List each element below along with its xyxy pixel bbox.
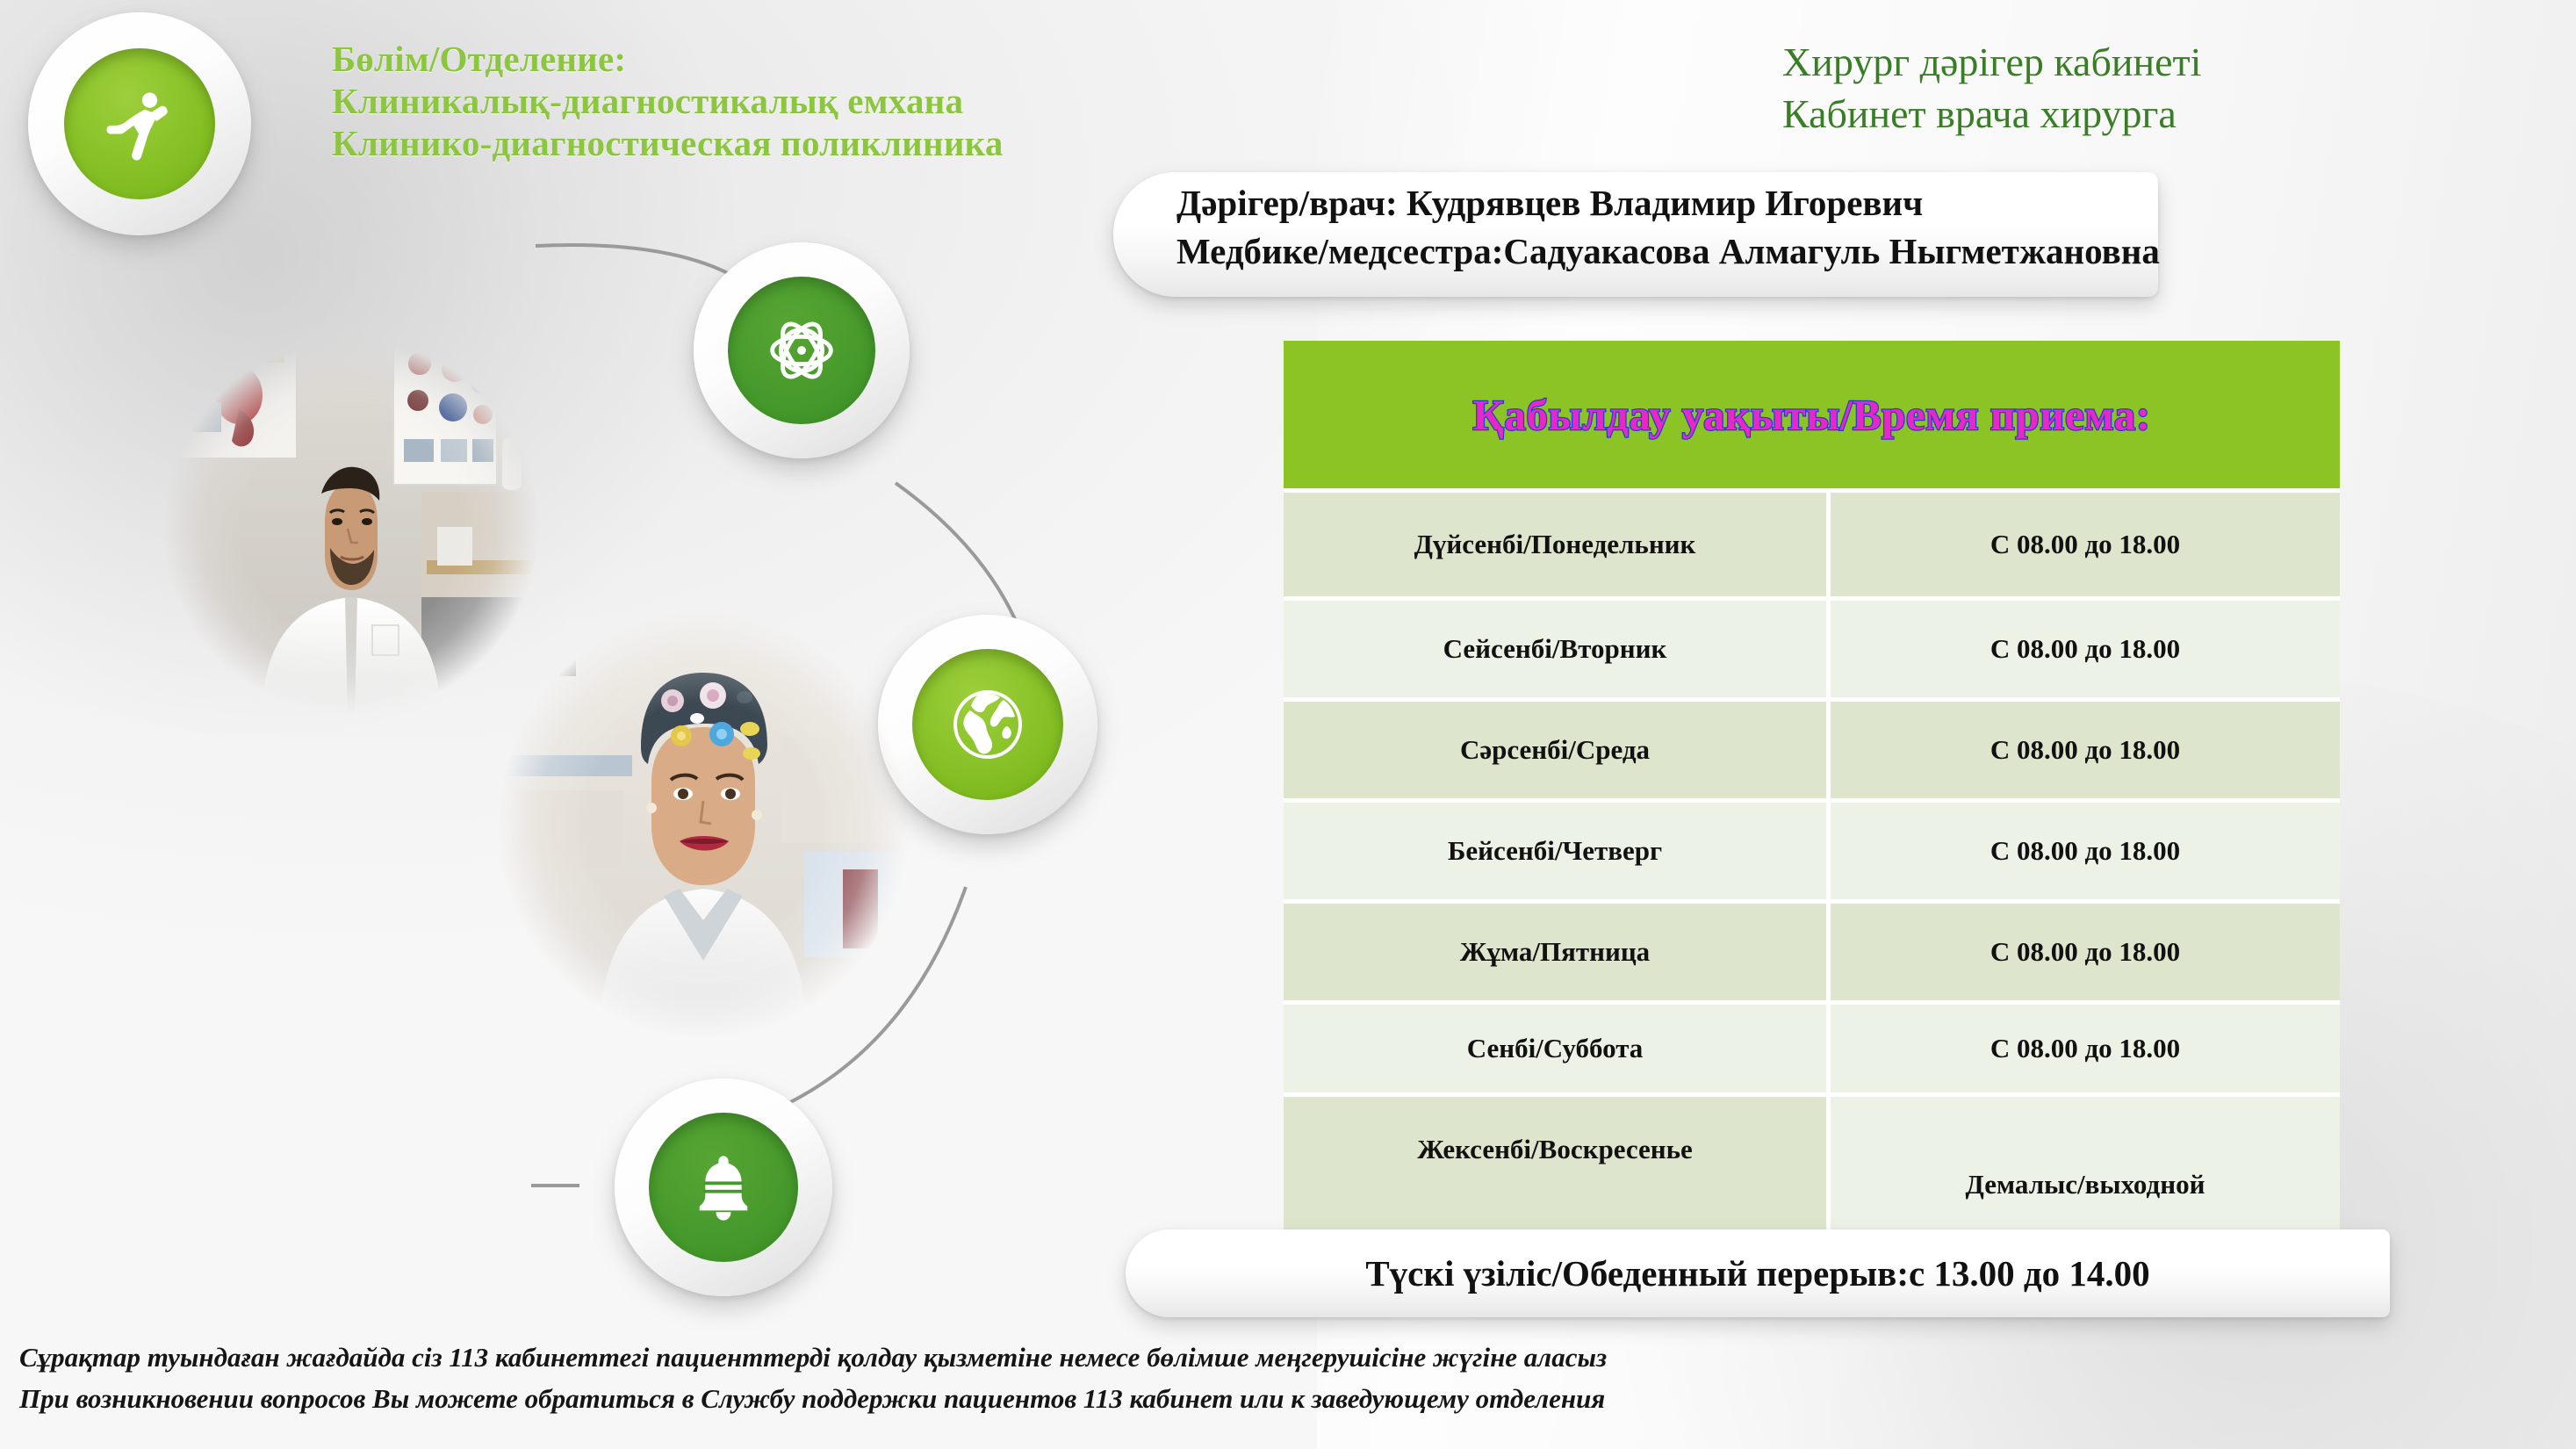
clinic-info-poster: Бөлім/Отделение: Клиникалық-диагностикал… <box>0 0 2576 1449</box>
cabinet-heading: Хирург дәрігер кабинеті Кабинет врача хи… <box>1782 37 2414 141</box>
lunch-break-text: Түскі үзіліс/Обеденный перерыв:с 13.00 д… <box>1126 1229 2390 1317</box>
schedule-header: Қабылдау уақыты/Время приема: <box>1284 341 2340 488</box>
badge-running-person <box>28 12 251 235</box>
schedule-time-cell: С 08.00 до 18.00 <box>1826 904 2340 1000</box>
table-row: Жұма/Пятница С 08.00 до 18.00 <box>1284 899 2340 1000</box>
staff-names: Дәрігер/врач: Кудрявцев Владимир Игореви… <box>1176 179 2256 275</box>
schedule-day-cell: Сенбі/Суббота <box>1284 1005 1826 1092</box>
schedule-day-cell: Дүйсенбі/Понедельник <box>1284 493 1826 596</box>
schedule-time-cell: С 08.00 до 18.00 <box>1826 803 2340 899</box>
table-row: Жексенбі/Воскресенье Демалыс/выходной <box>1284 1092 2340 1241</box>
doctor-name-line: Дәрігер/врач: Кудрявцев Владимир Игореви… <box>1176 179 2256 227</box>
schedule-day-cell: Жұма/Пятница <box>1284 904 1826 1000</box>
badge-bell <box>615 1078 832 1296</box>
nurse-photo <box>492 606 915 1045</box>
table-row: Сейсенбі/Вторник С 08.00 до 18.00 <box>1284 596 2340 697</box>
nurse-name-line: Медбике/медсестра:Садуакасова Алмагуль Н… <box>1176 227 2256 276</box>
atom-icon <box>728 277 875 424</box>
schedule-time-cell: С 08.00 до 18.00 <box>1826 702 2340 798</box>
schedule-time-cell: Демалыс/выходной <box>1826 1097 2340 1241</box>
schedule-header-text: Қабылдау уақыты/Время приема: <box>1472 390 2150 440</box>
department-name-ru: Клинико-диагностическая поликлиника <box>332 123 1210 165</box>
schedule-day-cell: Сейсенбі/Вторник <box>1284 601 1826 697</box>
doctor-photo <box>158 334 544 720</box>
footer-line-ru: При возникновении вопросов Вы можете обр… <box>19 1378 2126 1419</box>
schedule-day-cell: Сәрсенбі/Среда <box>1284 702 1826 798</box>
department-label: Бөлім/Отделение: <box>332 39 1210 81</box>
schedule-time-cell: С 08.00 до 18.00 <box>1826 1005 2340 1092</box>
schedule-day-cell: Жексенбі/Воскресенье <box>1284 1097 1826 1241</box>
reception-schedule-table: Қабылдау уақыты/Время приема: Дүйсенбі/П… <box>1284 341 2340 1241</box>
schedule-time-cell: С 08.00 до 18.00 <box>1826 493 2340 596</box>
table-row: Сәрсенбі/Среда С 08.00 до 18.00 <box>1284 697 2340 798</box>
footer-line-kk: Сұрақтар туындаған жағдайда сіз 113 каби… <box>19 1337 2126 1378</box>
cabinet-title-kk: Хирург дәрігер кабинеті <box>1782 37 2414 89</box>
badge-atom <box>694 242 910 458</box>
department-heading: Бөлім/Отделение: Клиникалық-диагностикал… <box>332 39 1210 165</box>
table-row: Сенбі/Суббота С 08.00 до 18.00 <box>1284 1000 2340 1092</box>
globe-icon <box>912 649 1063 800</box>
cabinet-title-ru: Кабинет врача хирурга <box>1782 89 2414 141</box>
table-row: Дүйсенбі/Понедельник С 08.00 до 18.00 <box>1284 488 2340 596</box>
bell-icon <box>649 1113 798 1262</box>
running-person-icon <box>64 48 215 199</box>
department-name-kk: Клиникалық-диагностикалық емхана <box>332 81 1210 123</box>
schedule-time-cell: С 08.00 до 18.00 <box>1826 601 2340 697</box>
table-row: Бейсенбі/Четверг С 08.00 до 18.00 <box>1284 798 2340 899</box>
schedule-day-cell: Бейсенбі/Четверг <box>1284 803 1826 899</box>
footer-note: Сұрақтар туындаған жағдайда сіз 113 каби… <box>19 1337 2126 1419</box>
